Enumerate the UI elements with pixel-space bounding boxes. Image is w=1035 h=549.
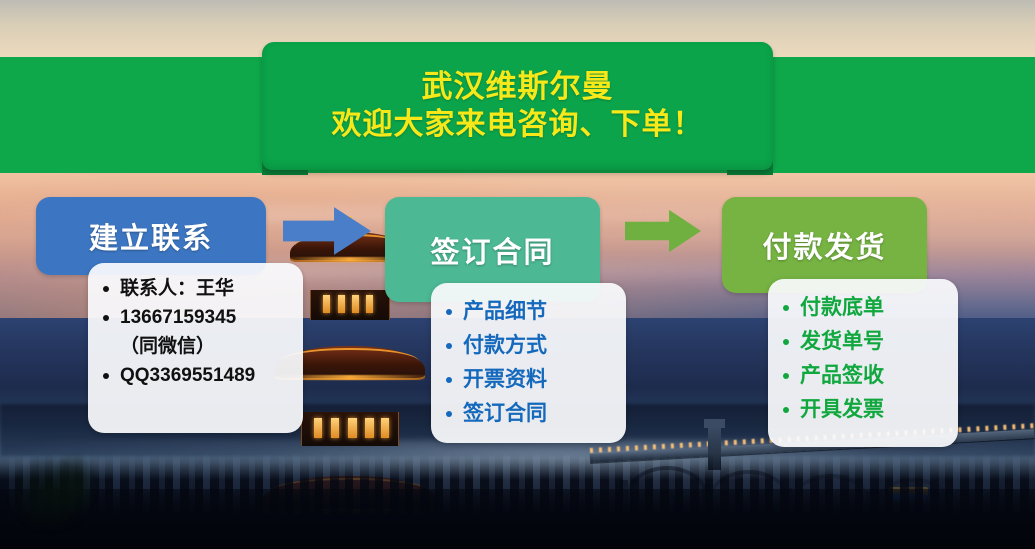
step-card-payment-shipment: 付款发货 付款底单 发货单号 产品签收 开具发票 (722, 197, 972, 455)
list-item: QQ3369551489 (98, 362, 289, 391)
step1-details: 联系人：王华 13667159345 （同微信） QQ3369551489 (88, 263, 303, 433)
list-item: 开票资料 (441, 363, 612, 397)
step3-title: 付款发货 (762, 224, 886, 266)
step1-list: 联系人：王华 13667159345 （同微信） QQ3369551489 (98, 275, 289, 391)
list-item: 付款方式 (441, 329, 612, 363)
step3-details: 付款底单 发货单号 产品签收 开具发票 (768, 279, 958, 447)
step2-details: 产品细节 付款方式 开票资料 签订合同 (431, 283, 626, 443)
foreground-silhouette (0, 489, 1035, 549)
foreground-trees (0, 440, 110, 549)
step-card-establish-contact: 建立联系 联系人：王华 13667159345 （同微信） QQ33695514… (36, 197, 316, 447)
promo-poster: 武汉维斯尔曼 欢迎大家来电咨询、下单！ 建立联系 联系人：王华 13667159… (0, 0, 1035, 549)
step2-title: 签订合同 (430, 229, 554, 271)
arrow-step2-to-step3-icon (625, 208, 701, 254)
list-item: 13667159345 (98, 304, 289, 333)
list-item: （同微信） (98, 333, 289, 362)
list-item: 开具发票 (778, 393, 944, 427)
list-item: 联系人：王华 (98, 275, 289, 304)
list-item: 付款底单 (778, 291, 944, 325)
step2-list: 产品细节 付款方式 开票资料 签订合同 (441, 295, 612, 431)
list-item: 产品签收 (778, 359, 944, 393)
list-item: 产品细节 (441, 295, 612, 329)
ribbon-banner: 武汉维斯尔曼 欢迎大家来电咨询、下单！ (0, 57, 1035, 173)
banner-subtitle: 欢迎大家来电咨询、下单！ (332, 107, 704, 144)
ribbon-panel: 武汉维斯尔曼 欢迎大家来电咨询、下单！ (262, 42, 773, 170)
step3-list: 付款底单 发货单号 产品签收 开具发票 (778, 291, 944, 427)
arrow-step1-to-step2-icon (283, 205, 371, 257)
step1-title: 建立联系 (89, 215, 213, 257)
list-item: 发货单号 (778, 325, 944, 359)
step-card-sign-contract: 签订合同 产品细节 付款方式 开票资料 签订合同 (385, 197, 640, 452)
company-name: 武汉维斯尔曼 (422, 68, 614, 106)
list-item: 签订合同 (441, 397, 612, 431)
